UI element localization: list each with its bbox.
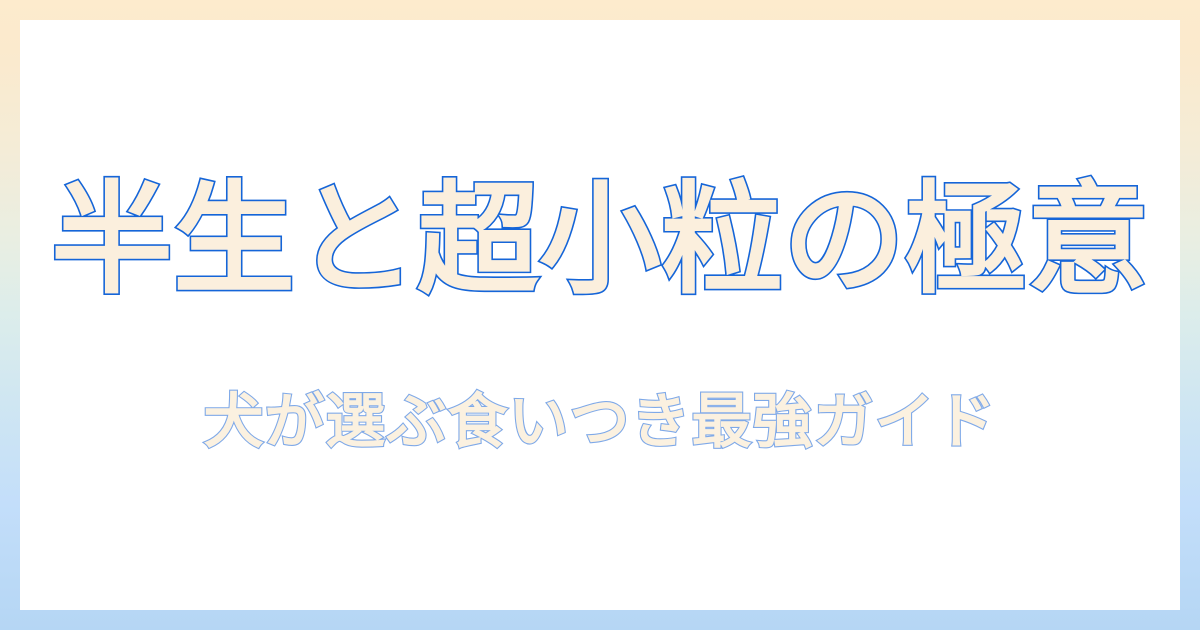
- page-subtitle: 犬が選ぶ食いつき最強ガイド: [204, 388, 997, 457]
- content-card: 半生と超小粒の極意 犬が選ぶ食いつき最強ガイド: [20, 20, 1180, 610]
- banner-canvas: 半生と超小粒の極意 犬が選ぶ食いつき最強ガイド: [0, 0, 1200, 630]
- subtitle-container: 犬が選ぶ食いつき最強ガイド: [20, 388, 1180, 457]
- page-title: 半生と超小粒の極意: [51, 175, 1149, 307]
- title-container: 半生と超小粒の極意: [20, 175, 1180, 307]
